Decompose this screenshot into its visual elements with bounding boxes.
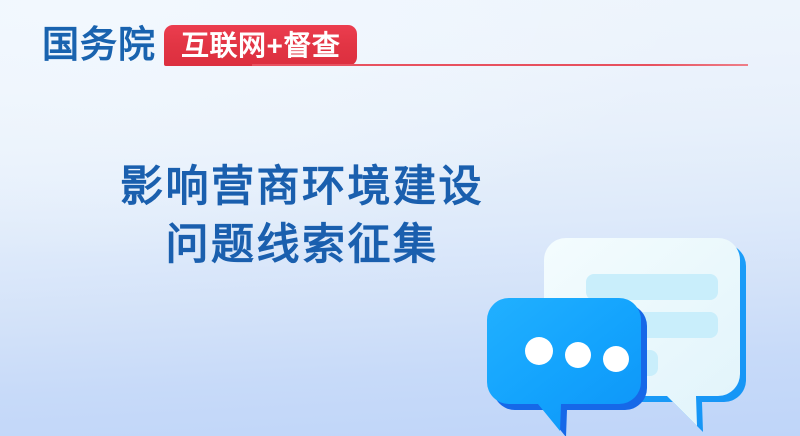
speech-bubbles-illustration bbox=[486, 218, 766, 436]
typing-dot-1 bbox=[525, 337, 553, 365]
message-line-bar-1 bbox=[586, 274, 718, 300]
government-council-label: 国务院 bbox=[42, 22, 156, 68]
typing-dot-2 bbox=[565, 342, 591, 368]
banner-header: 国务院 互联网+督查 bbox=[0, 0, 800, 92]
message-bubble-typing bbox=[487, 298, 647, 436]
headline-line-1: 影响营商环境建设 bbox=[0, 158, 604, 216]
typing-dot-3 bbox=[603, 346, 629, 372]
speech-bubbles-icon bbox=[486, 218, 766, 436]
promo-banner: 国务院 互联网+督查 影响营商环境建设 问题线索征集 bbox=[0, 0, 800, 436]
badge-label: 互联网+督查 bbox=[181, 32, 340, 60]
header-divider-rule bbox=[252, 64, 748, 66]
internet-plus-supervision-badge: 互联网+督查 bbox=[164, 25, 357, 66]
